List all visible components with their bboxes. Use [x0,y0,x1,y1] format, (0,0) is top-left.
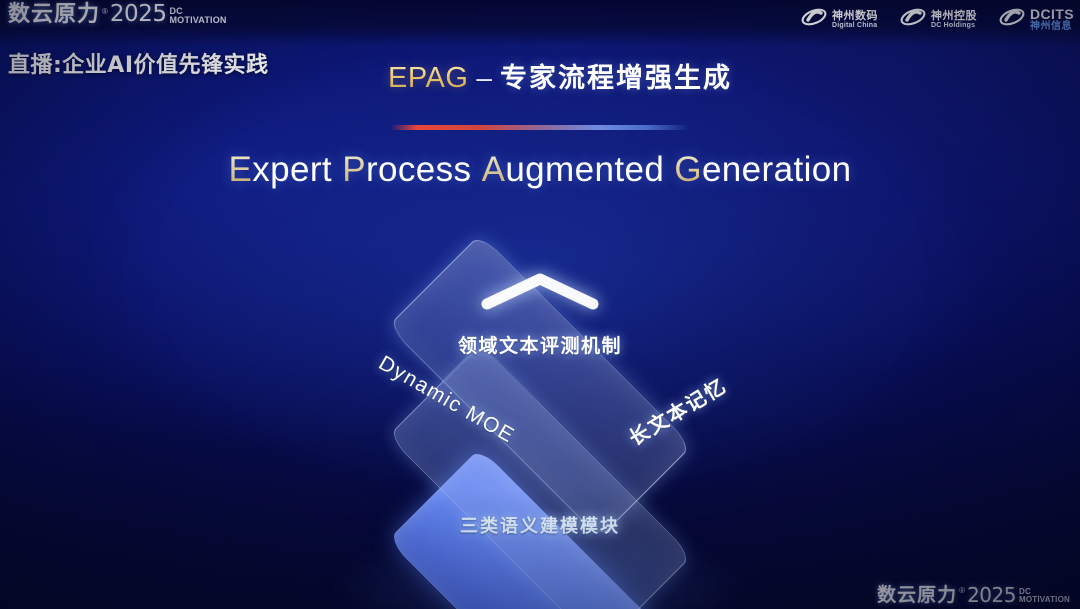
expansion-cap-e: E [229,150,253,189]
logo-label-en: Digital China [832,22,878,29]
expansion-cap-a: A [482,150,506,189]
expansion-cap-p: P [342,150,366,189]
acronym-expansion: Expert Process Augmented Generation [0,150,1080,190]
expansion-rest-generation: eneration [702,150,852,189]
brand-name-cn: 数云原力 [8,4,100,26]
brand-year: 2025 [110,3,167,26]
expansion-cap-g: G [674,150,702,189]
swoosh-icon [801,6,827,33]
brand-sub-motivation: MOTIVATION [169,16,226,25]
title-acronym: EPAG [388,62,468,94]
slide-stage: 数云原力 ® 2025 DC MOTIVATION 直播:企业AI价值先锋实践 … [0,0,1080,609]
title-chinese: 专家流程增强生成 [500,63,732,94]
swoosh-icon [900,6,926,33]
brand-logo-watermark: 数云原力 ® 2025 DC MOTIVATION [877,585,1070,605]
brand-registered-mark: ® [959,587,965,595]
logo-label-en: DC Holdings [931,22,977,29]
page-title: EPAG–专家流程增强生成 [0,56,1080,95]
brand-sub-motivation: MOTIVATION [1019,596,1070,604]
brand-name-cn: 数云原力 [877,586,957,605]
expansion-rest-expert: xpert [252,150,332,189]
logo-label-en: DCITS [1030,7,1074,22]
logo-label-cn: 神州控股 [931,10,977,22]
chevron-up-icon [479,271,601,311]
logo-digital-china: 神州数码 Digital China [801,6,878,33]
brand-year: 2025 [967,585,1016,605]
logo-dc-holdings: 神州控股 DC Holdings [900,6,977,33]
swoosh-icon [999,6,1025,33]
logo-label-cn: 神州信息 [1030,22,1074,33]
expansion-rest-process: rocess [366,150,472,189]
brand-registered-mark: ® [102,8,108,16]
title-divider [390,125,690,130]
expansion-rest-augmented: ugmented [505,150,664,189]
brand-logo-top-left: 数云原力 ® 2025 DC MOTIVATION [8,3,227,26]
logo-label-cn: 神州数码 [832,10,878,22]
layer-stack-diagram: 领域文本评测机制 Dynamic MOE 长文本记忆 三类语义建模模块 [290,228,790,578]
logo-dcits: DCITS 神州信息 [999,6,1074,33]
title-dash: – [476,62,492,93]
partner-logos: 神州数码 Digital China 神州控股 DC Holdings [801,6,1074,33]
